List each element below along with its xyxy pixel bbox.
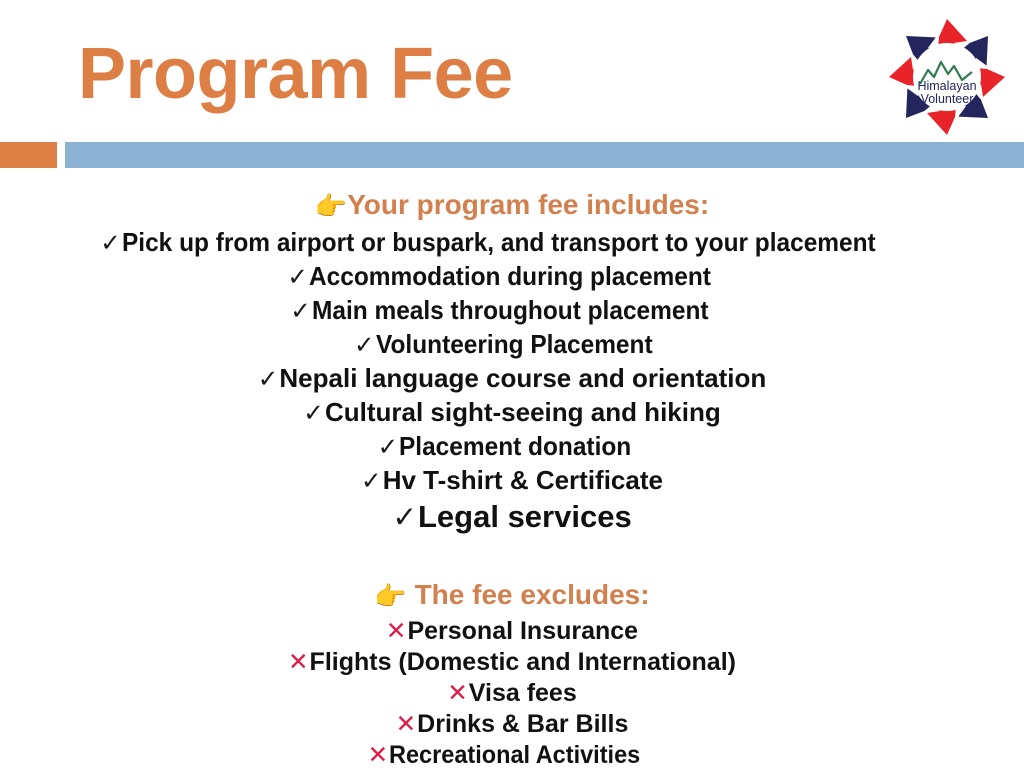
excludes-heading: 👉 The fee excludes: — [0, 580, 1024, 610]
includes-heading: 👉Your program fee includes: — [0, 190, 1024, 220]
himalayan-volunteer-logo: Himalayan Volunteer — [884, 14, 1010, 140]
include-item-label: Placement donation — [399, 430, 631, 462]
cross-icon: ✕ — [288, 649, 309, 676]
divider-bar — [65, 142, 1024, 168]
exclude-item-label: Visa fees — [469, 679, 577, 707]
include-item-label: Main meals throughout placement — [312, 294, 709, 326]
excludes-list: ✕Personal Insurance✕Flights (Domestic an… — [0, 616, 1024, 771]
exclude-item-label: Recreational Activities — [389, 740, 640, 771]
include-item: ✓Placement donation — [0, 430, 1024, 464]
cross-icon: ✕ — [447, 680, 468, 707]
pointing-right-hand-icon: 👉 — [374, 581, 406, 611]
exclude-item-label: Drinks & Bar Bills — [417, 710, 628, 738]
exclude-item-label: Flights (Domestic and International) — [310, 648, 736, 676]
check-icon: ✓ — [100, 230, 121, 257]
svg-text:Volunteer: Volunteer — [921, 92, 974, 106]
include-item: ✓Cultural sight-seeing and hiking — [0, 396, 1024, 430]
include-item-label: Nepali language course and orientation — [279, 363, 766, 393]
svg-text:Himalayan: Himalayan — [917, 79, 976, 93]
exclude-item: ✕Visa fees — [0, 678, 1024, 709]
include-item-label: Volunteering Placement — [376, 328, 653, 360]
check-icon: ✓ — [290, 298, 311, 325]
include-item: ✓Accommodation during placement — [0, 260, 1024, 294]
includes-list: ✓Pick up from airport or buspark, and tr… — [0, 226, 1024, 536]
include-item-label: Pick up from airport or buspark, and tra… — [122, 226, 876, 258]
excludes-heading-label: The fee excludes: — [415, 579, 650, 610]
include-item-label: Cultural sight-seeing and hiking — [325, 397, 721, 427]
includes-heading-label: Your program fee includes: — [347, 189, 709, 220]
include-item: ✓Hv T-shirt & Certificate — [0, 464, 1024, 498]
exclude-item: ✕Drinks & Bar Bills — [0, 709, 1024, 740]
check-icon: ✓ — [378, 434, 399, 461]
check-icon: ✓ — [303, 400, 324, 427]
exclude-item: ✕Flights (Domestic and International) — [0, 647, 1024, 678]
pointing-right-hand-icon: 👉 — [315, 191, 347, 221]
include-item-label: Accommodation during placement — [309, 260, 711, 292]
check-icon: ✓ — [361, 468, 382, 495]
check-icon: ✓ — [258, 366, 279, 393]
include-item-label: Hv T-shirt & Certificate — [383, 465, 663, 495]
cross-icon: ✕ — [396, 711, 417, 738]
include-item-label: Legal services — [418, 499, 632, 534]
cross-icon: ✕ — [386, 618, 407, 645]
includes-section: 👉Your program fee includes: ✓Pick up fro… — [0, 190, 1024, 536]
slide-content: 👉Your program fee includes: ✓Pick up fro… — [0, 190, 1024, 771]
page-title: Program Fee — [78, 38, 513, 110]
check-icon: ✓ — [354, 332, 375, 359]
exclude-item: ✕Personal Insurance — [0, 616, 1024, 647]
include-item: ✓Main meals throughout placement — [0, 294, 1024, 328]
check-icon: ✓ — [287, 264, 308, 291]
include-item: ✓Nepali language course and orientation — [0, 362, 1024, 396]
cross-icon: ✕ — [368, 742, 389, 769]
include-item: ✓Legal services — [0, 498, 1024, 536]
divider-accent-block — [0, 142, 57, 168]
exclude-item-label: Personal Insurance — [407, 617, 638, 645]
excludes-section: 👉 The fee excludes: ✕Personal Insurance✕… — [0, 580, 1024, 770]
include-item: ✓Pick up from airport or buspark, and tr… — [0, 226, 1024, 260]
exclude-item: ✕Recreational Activities — [0, 740, 1024, 771]
check-icon: ✓ — [392, 501, 417, 534]
include-item: ✓Volunteering Placement — [0, 328, 1024, 362]
header-divider — [0, 142, 1024, 168]
